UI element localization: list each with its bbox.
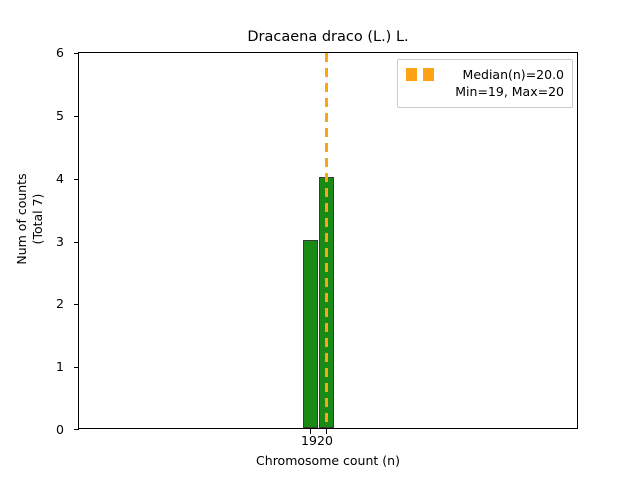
y-tick-label-1: 1 [4,360,64,373]
median-layer [79,53,577,428]
chart-legend[interactable]: Median(n)=20.0 Min=19, Max=20 [397,59,573,108]
y-tick-label-6: 6 [4,46,64,59]
figure-canvas: Dracaena draco (L.) L. 6 5 4 3 2 1 0 Num… [0,0,640,480]
y-tick-mark-0 [74,429,80,430]
chart-title: Dracaena draco (L.) L. [78,28,578,46]
legend-text-block: Median(n)=20.0 Min=19, Max=20 [449,66,564,100]
legend-label-median: Median(n)=20.0 [449,66,564,83]
y-axis-title: Num of counts (Total 7) [14,89,46,349]
legend-label-minmax: Min=19, Max=20 [449,83,564,100]
plot-area: Median(n)=20.0 Min=19, Max=20 [78,52,578,429]
legend-row-median: Median(n)=20.0 Min=19, Max=20 [406,66,564,100]
y-tick-label-0: 0 [4,423,64,436]
x-axis-title: Chromosome count (n) [78,453,578,468]
x-tick-label-20: 20 [313,434,337,447]
median-line [325,53,328,428]
y-axis-title-line1: Num of counts [14,89,30,349]
dashed-line-icon [406,68,440,81]
y-axis-title-line2: (Total 7) [30,89,46,349]
